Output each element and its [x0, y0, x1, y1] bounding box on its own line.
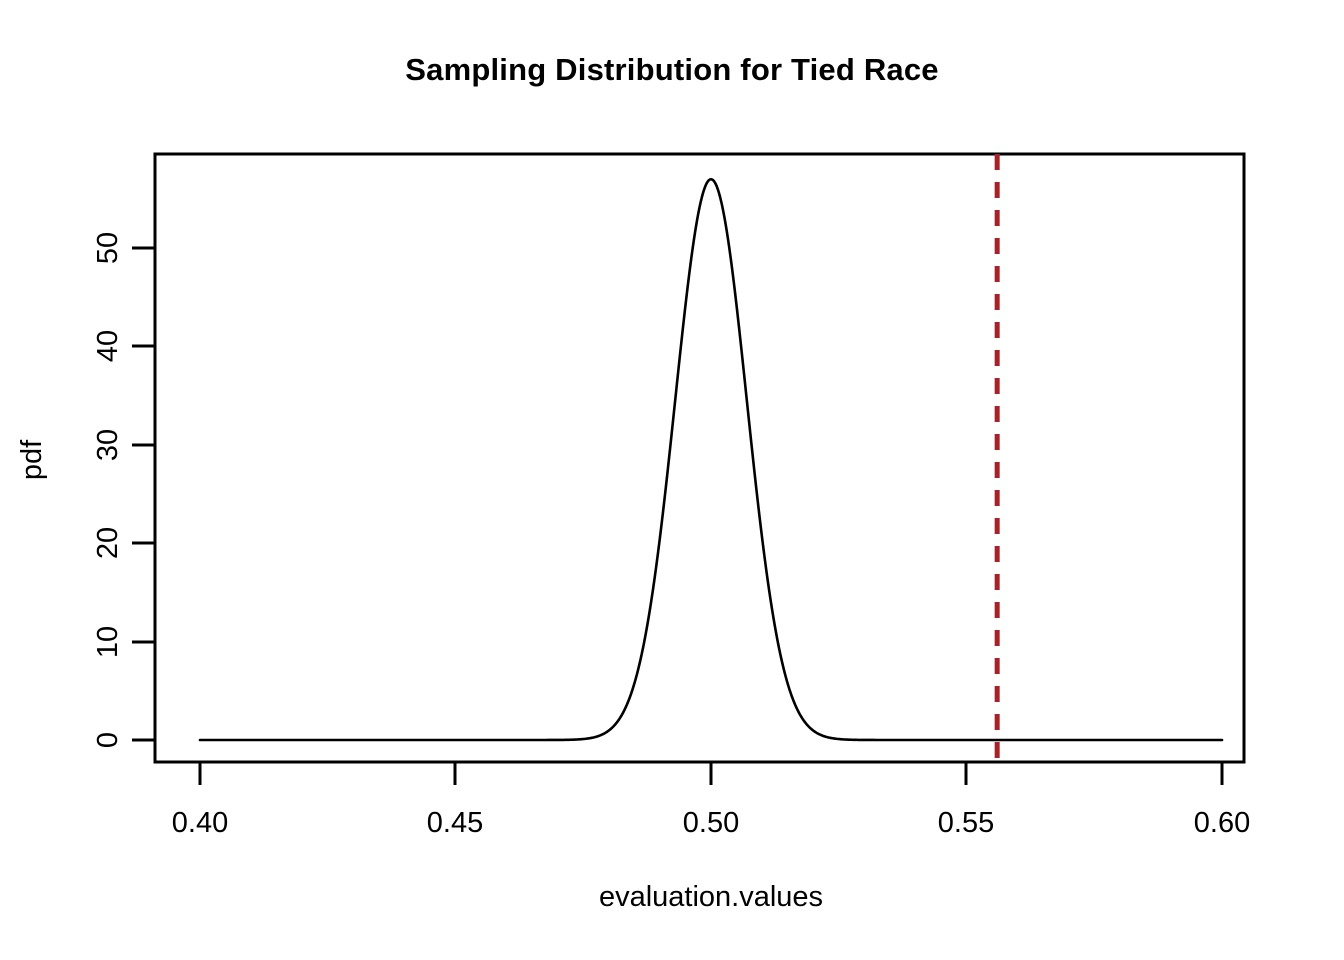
- plot-frame: [155, 154, 1244, 762]
- x-axis-ticks: [200, 762, 1222, 785]
- x-tick-label-1: 0.45: [427, 807, 483, 839]
- x-tick-label-3: 0.55: [938, 807, 994, 839]
- x-axis-tick-labels: 0.40 0.45 0.50 0.55 0.60: [172, 807, 1250, 839]
- plot-canvas: 0.40 0.45 0.50 0.55 0.60 0 10 20 30 40 5…: [0, 0, 1344, 960]
- x-tick-label-0: 0.40: [172, 807, 228, 839]
- y-tick-label-0: 0: [92, 732, 124, 748]
- density-curve: [200, 179, 1222, 740]
- y-tick-label-2: 20: [92, 527, 124, 559]
- y-tick-label-4: 40: [92, 330, 124, 362]
- y-axis-tick-labels: 0 10 20 30 40 50: [92, 232, 124, 748]
- x-axis-title: evaluation.values: [599, 881, 823, 913]
- x-tick-label-2: 0.50: [683, 807, 739, 839]
- x-tick-label-4: 0.60: [1194, 807, 1250, 839]
- y-axis-ticks: [132, 248, 155, 740]
- y-axis-title: pdf: [16, 439, 48, 480]
- y-tick-label-3: 30: [92, 429, 124, 461]
- y-tick-label-1: 10: [92, 626, 124, 658]
- y-tick-label-5: 50: [92, 232, 124, 264]
- chart-page: Sampling Distribution for Tied Race 0.40…: [0, 0, 1344, 960]
